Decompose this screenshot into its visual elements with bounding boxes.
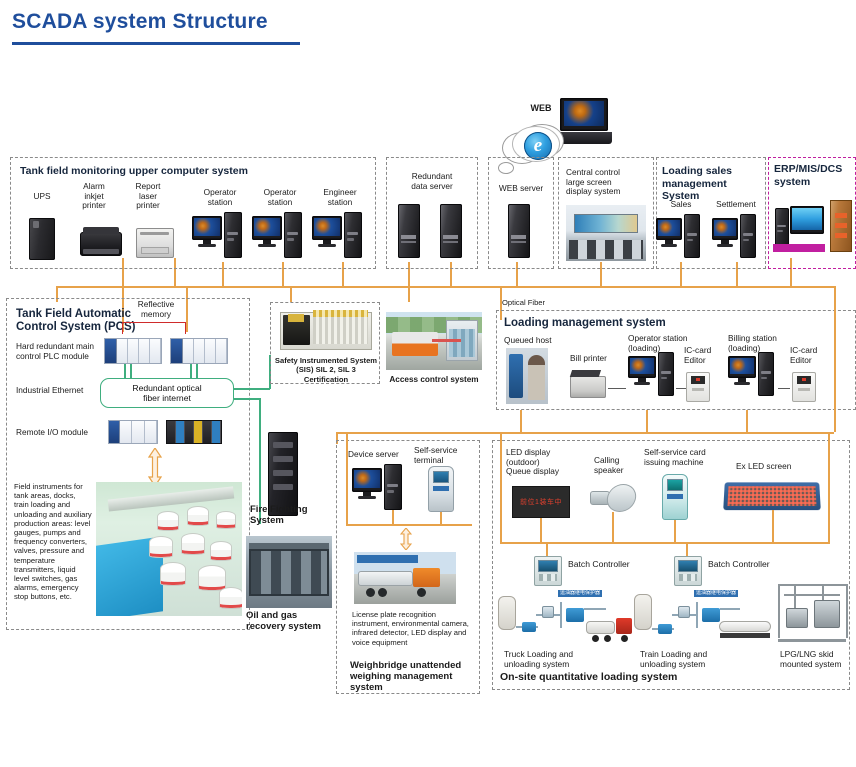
settlement-monitor-icon [712,218,738,240]
horn-speaker-icon [590,484,636,512]
diagram-canvas: SCADA system Structure Tank field monito… [0,0,856,767]
onsite-drop-led [540,518,542,542]
weigh-internal-drop-server [392,510,394,524]
label-truck-loading-system: Truck Loading and unloading system [504,650,590,669]
loading-operator-monitor-icon [628,356,656,378]
label-sales: Sales [660,200,702,210]
self-service-terminal-icon [428,466,454,512]
led-queue-display-text: 前位1装车中 [520,497,562,507]
onsite-inner-bus [500,542,830,544]
erp-desk [773,244,825,252]
operator-station-1-monitor-icon [192,216,222,240]
link-billprinter-operator [608,388,626,389]
operator-station-2-monitor-icon [252,216,282,240]
sales-tower-icon [684,214,700,258]
label-reflective-memory: Reflective memory [126,300,186,319]
bus-drop-lm-1 [520,410,522,432]
label-self-service-card-machine: Self-service card issuing machine [644,448,726,467]
label-engineer-station: Engineer station [314,188,366,207]
billing-station-tower-icon [758,352,774,396]
onsite-riser-left [500,432,502,542]
label-self-service-terminal: Self-service terminal [414,446,470,465]
schematic-tag-truck: 运油器继电保护器 [558,590,602,597]
ic-card-editor-icon-1 [686,372,710,402]
engineer-station-tower-icon [344,212,362,258]
plc-rack-icon-1 [104,338,162,364]
dcs-cabinet-icon [830,200,852,252]
label-operator-station-1: Operator station [194,188,246,207]
label-settlement: Settlement [710,200,762,210]
label-led-queue-display: LED display (outdoor) Queue display [506,448,568,477]
onsite-drop-speaker [612,512,614,542]
gate-truck-photo [386,312,482,370]
internet-explorer-icon: e [524,132,552,160]
label-web-server: WEB server [492,184,550,194]
operator-station-1-tower-icon [224,212,242,258]
io-field-arrow-icon [148,448,162,486]
label-queued-host: Queued host [504,336,574,346]
lpg-skid-icon [778,578,848,646]
label-weighbridge-title: Weighbridge unattended weighing manageme… [350,660,482,693]
label-fire-fighting-system: Fire Fighting System [250,504,334,526]
bus-drop-lm-2 [646,410,648,432]
desktop-pc-icon [790,206,824,234]
fiber-out-upper [234,388,270,390]
redundant-server-icon-1 [398,204,420,258]
link-billing-iccard2 [778,388,790,389]
label-field-instruments: Field instruments for tank areas, docks,… [14,482,92,602]
weigh-internal-drop-terminal [440,512,442,524]
ic-card-editor-icon-2 [792,372,816,402]
led-queue-display-icon: 前位1装车中 [512,486,570,518]
label-operator-station-2: Operator station [254,188,306,207]
inkjet-printer-icon [80,232,122,256]
batch2-feed [686,542,688,556]
box-tank-field-monitoring-title: Tank field monitoring upper computer sys… [20,165,360,178]
io-rack-dark-icon [166,420,222,444]
label-central-control-display: Central control large screen display sys… [566,168,652,197]
web-server-icon [508,204,530,258]
weigh-device-server-tower-icon [384,464,402,510]
train-loading-schematic: 运油器继电保护器 [634,586,774,648]
label-batch-controller-2: Batch Controller [708,560,784,570]
laser-printer-icon [136,228,174,258]
box-loading-sales-title: Loading sales management System [662,165,764,203]
title-underline [12,42,300,45]
label-onsite-quantitative-loading-title: On-site quantitative loading system [500,672,760,683]
label-train-loading-system: Train Loading and unloading system [640,650,728,669]
label-hard-redundant-plc: Hard redundant main control PLC module [16,342,116,361]
bus-right-riser [834,302,836,432]
label-access-control-system: Access control system [382,374,486,385]
onsite-drop-card [674,520,676,542]
tank-farm-photo [96,482,242,616]
card-issuing-machine-icon [662,474,688,520]
weigh-internal-bus [346,524,472,526]
label-ups: UPS [20,192,64,202]
page-title: SCADA system Structure [12,10,268,34]
ups-icon [29,218,55,260]
bill-printer-icon [570,376,606,398]
label-remote-io: Remote I/O module [16,428,116,438]
sis-module-icon [280,312,372,350]
bus-drop-lm-3 [746,410,748,432]
bus-down-right-edge [834,286,836,302]
settlement-tower-icon [740,214,756,258]
plc-rack-icon-2 [170,338,228,364]
label-device-server: Device server [348,450,406,460]
fiber-out-lower [234,398,260,400]
label-lpg-lng-skid-system: LPG/LNG skid mounted system [780,650,856,669]
erp-tower-icon [775,208,789,246]
bus-down-access-control [408,286,410,302]
onsite-riser-right [828,432,830,542]
lower-backbone-bus [336,432,834,434]
bus-down-sis [290,286,292,302]
reflective-memory-bracket [122,322,186,334]
label-calling-speaker: Calling speaker [594,456,640,475]
main-backbone-bus [56,286,834,288]
control-room-photo [566,205,646,261]
recovery-skid-photo [246,536,332,608]
label-bill-printer: Bill printer [570,354,626,364]
weigh-internal-riser-left [346,432,348,524]
label-optical-fiber: Optical Fiber [502,298,582,308]
engineer-station-monitor-icon [312,216,342,240]
schematic-tag-train: 运油器继电保护器 [694,590,738,597]
billing-station-monitor-icon [728,356,756,378]
box-erp-mis-dcs-title: ERP/MIS/DCS system [774,163,854,188]
weigh-arrow-icon [400,528,412,550]
label-ic-card-editor-2: IC-card Editor [790,346,832,365]
label-weighbridge-caption: License plate recognition instrument, en… [352,610,474,647]
link-operator-iccard1 [676,388,686,389]
queue-kiosk-photo [506,348,548,404]
io-rack-icon [108,420,158,444]
redundant-optical-fiber-internet[interactable]: Redundant optical fiber internet [100,378,234,408]
batch-controller-icon-2 [674,556,702,586]
label-safety-instrumented-system: Safety Instrumented System (SIS) SIL 2, … [274,356,378,384]
batch1-feed [546,542,548,556]
batch-controller-icon-1 [534,556,562,586]
label-report-laser-printer: Report laser printer [126,182,170,211]
redundant-server-icon-2 [440,204,462,258]
truck-loading-schematic: 运油器继电保护器 [498,586,634,648]
weigh-device-server-monitor-icon [352,468,382,492]
label-ex-led-screen: Ex LED screen [736,462,806,472]
loading-management-title: Loading management system [504,317,764,330]
weighbridge-truck-photo [354,552,456,604]
label-batch-controller-1: Batch Controller [568,560,644,570]
ex-led-screen-icon [723,482,821,510]
onsite-drop-exled [772,510,774,542]
label-alarm-inkjet-printer: Alarm inkjet printer [72,182,116,211]
label-ic-card-editor-1: IC-card Editor [684,346,726,365]
label-oil-gas-recovery-system: Oil and gas recovery system [246,610,338,632]
loading-operator-tower-icon [658,352,674,396]
sales-monitor-icon [656,218,682,240]
operator-station-2-tower-icon [284,212,302,258]
label-redundant-data-server: Redundant data server [392,172,472,191]
